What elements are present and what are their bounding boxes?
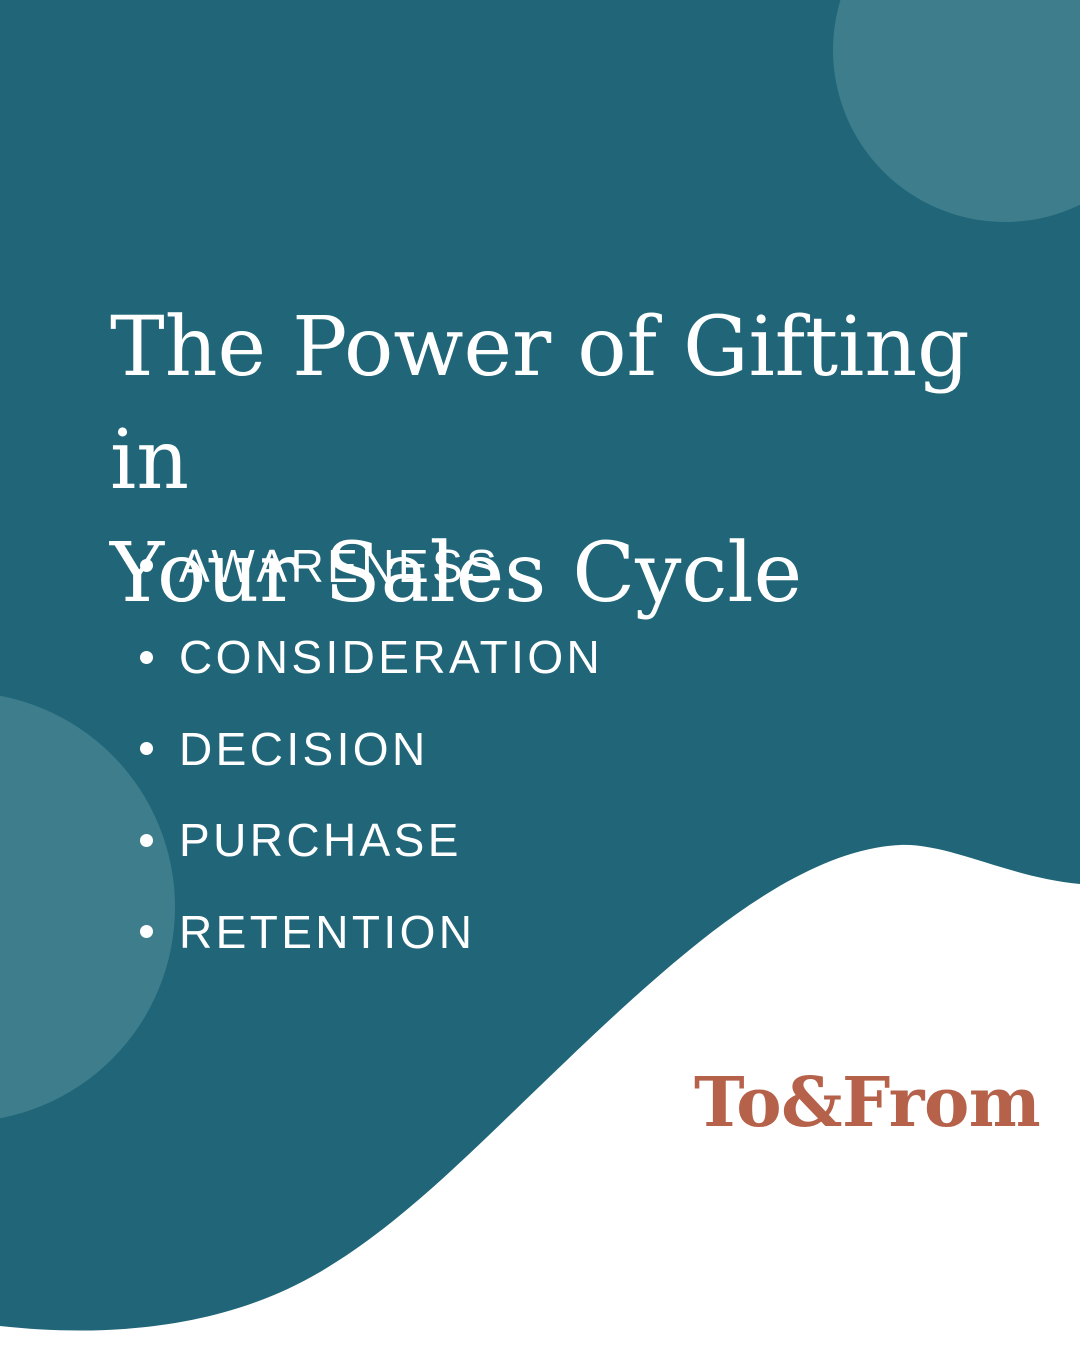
list-item: AWARENESS	[140, 520, 603, 612]
social-post-canvas: The Power of Gifting in Your Sales Cycle…	[0, 0, 1080, 1350]
list-item: CONSIDERATION	[140, 612, 603, 704]
stage-label-purchase: PURCHASE	[179, 817, 462, 863]
bullet-dot-icon	[140, 742, 153, 755]
post-content: The Power of Gifting in Your Sales Cycle…	[0, 0, 1080, 1350]
bullet-dot-icon	[140, 559, 153, 572]
sales-cycle-stage-list: AWARENESS CONSIDERATION DECISION PURCHAS…	[140, 520, 603, 978]
stage-label-awareness: AWARENESS	[179, 543, 500, 589]
bullet-dot-icon	[140, 925, 153, 938]
bullet-dot-icon	[140, 651, 153, 664]
bullet-dot-icon	[140, 834, 153, 847]
stage-label-decision: DECISION	[179, 726, 429, 772]
brand-logo: To&From	[694, 1069, 1040, 1137]
stage-label-retention: RETENTION	[179, 909, 475, 955]
list-item: PURCHASE	[140, 795, 603, 887]
stage-label-consideration: CONSIDERATION	[179, 634, 603, 680]
list-item: DECISION	[140, 703, 603, 795]
list-item: RETENTION	[140, 886, 603, 978]
